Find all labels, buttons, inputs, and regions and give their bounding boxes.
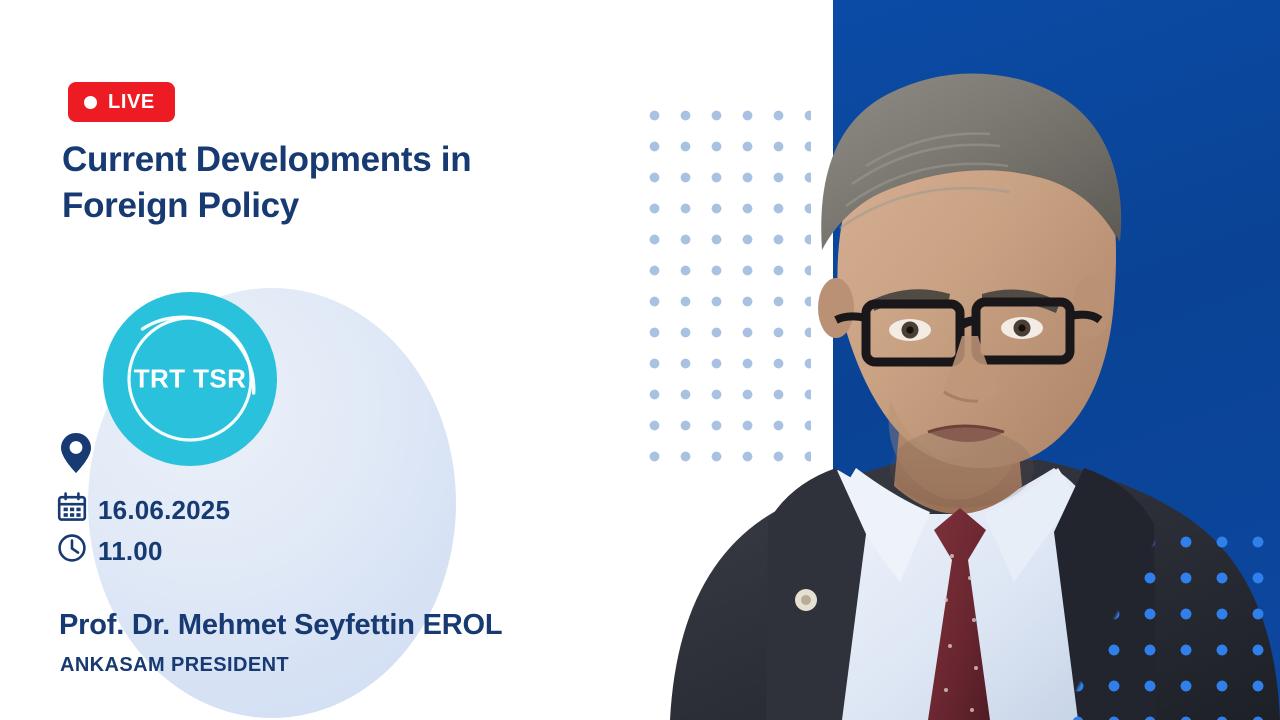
dot-grid-pattern-right: [984, 520, 1280, 720]
map-pin-icon: [60, 432, 92, 479]
speaker-role: ANKASAM PRESIDENT: [60, 655, 289, 675]
page-title: Current Developments in Foreign Policy: [62, 137, 602, 228]
speaker-name: Prof. Dr. Mehmet Seyfettin EROL: [59, 611, 502, 640]
event-date: 16.06.2025: [98, 497, 230, 523]
trt-tsr-logo-label: TRT TSR: [103, 364, 277, 395]
trt-tsr-logo: TRT TSR: [103, 292, 277, 466]
event-date-row: 16.06.2025: [57, 492, 230, 527]
info-column: LIVE Current Developments in Foreign Pol…: [0, 0, 640, 720]
calendar-icon: [57, 492, 87, 527]
status-badge: LIVE: [68, 82, 175, 122]
livestream-announcement-card: LIVE Current Developments in Foreign Pol…: [0, 0, 1280, 720]
live-dot-icon: [84, 96, 97, 109]
status-badge-label: LIVE: [108, 92, 155, 112]
event-time-row: 11.00: [57, 533, 163, 568]
event-time: 11.00: [98, 538, 163, 564]
clock-icon: [57, 533, 87, 568]
